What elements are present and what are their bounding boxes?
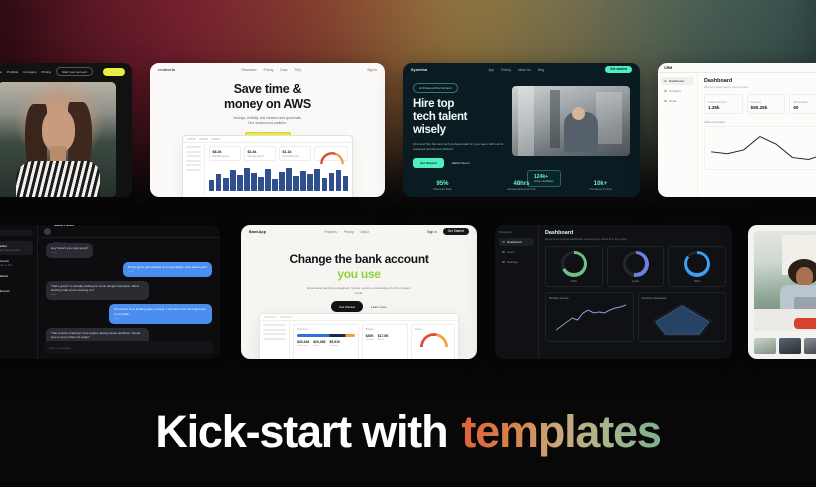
bank-button-row: Get Started Learn more — [241, 301, 477, 312]
bank-panel-body: Overview $30,164 Total spend $20,082 Sav… — [260, 321, 458, 359]
aws-stat-label: Monthly spend — [213, 155, 238, 158]
amount-value: $30,164 — [297, 340, 309, 344]
gallery-hero-photo — [754, 231, 816, 331]
hiring-stat-label: Average Response Time — [482, 188, 561, 191]
hiring-get-started-button[interactable]: Get started — [605, 66, 632, 73]
chat-thread: Sarah Parker Online now Hey! How's your … — [38, 225, 220, 359]
thumbnail[interactable] — [779, 338, 801, 354]
conversation-preview: Let me check on that — [0, 264, 31, 267]
template-card-hiring-landing[interactable]: Synetiva App Pricing About Us Blog Get s… — [403, 63, 640, 197]
message-input-placeholder: Type a message... — [49, 346, 74, 350]
amount-label: Total spend — [297, 345, 309, 347]
thumbnail[interactable] — [804, 338, 816, 354]
donut-gauge-other: 86% — [684, 251, 710, 277]
list-item[interactable]: Emma Wilson Thanks! — [0, 271, 33, 285]
aws-panel-sidebar — [183, 143, 205, 197]
score-label: Score — [415, 328, 451, 331]
contacts-icon — [664, 90, 667, 93]
sales-line-svg — [705, 127, 816, 169]
aws-utilization-gauge — [314, 146, 348, 161]
nav-link-blog[interactable]: Blog — [538, 68, 544, 72]
aws-stat-card: $8.2k Monthly spend — [209, 146, 241, 161]
aws-stat-value: $8.2k — [213, 150, 238, 154]
crm-topbar: CRM — [658, 63, 816, 73]
nav-link-company[interactable]: Company — [23, 70, 36, 74]
photo-machine-right — [596, 92, 622, 144]
nav-link-pricing[interactable]: Pricing — [344, 230, 354, 234]
bank-paragraph: Experience banking reimagined. Simple, s… — [241, 286, 477, 295]
analytics-sidebar: Navigation Dashboard Users Settings — [495, 225, 539, 359]
metric-value: $50.25k — [751, 105, 782, 110]
message-input[interactable]: Type a message... — [44, 341, 214, 354]
portrait-neck — [50, 146, 66, 162]
message-bubble-sent: Pretty good, just working on a new desig… — [123, 262, 212, 277]
crm-body: Dashboard Contacts Deals Dashboard Welco… — [658, 73, 816, 197]
aws-bar-chart — [209, 165, 348, 191]
sidebar-title: Navigation — [499, 230, 534, 234]
chat-contact-name: Sarah Parker — [54, 225, 74, 227]
nav-link-pricing[interactable]: Pricing — [501, 68, 511, 72]
donut-gauge-visits: 68% — [561, 251, 587, 277]
template-card-crm-dashboard[interactable]: CRM Dashboard Contacts Deals Dashboard — [658, 63, 816, 197]
message-text: Pretty good, just working on a new desig… — [128, 265, 207, 269]
analytics-line-chart: Monthly Income — [545, 292, 634, 342]
conversation-preview: Sounds great! See you then — [0, 249, 31, 252]
budget-caption: Planned — [366, 339, 374, 341]
amount-label: Pending — [330, 345, 340, 347]
bank-headline-line1: Change the bank account — [241, 252, 477, 266]
message-text: That's great! I'm actually looking for s… — [51, 284, 139, 292]
message-bubble-received: That's great! I'm actually looking for s… — [46, 281, 149, 300]
crm-sales-chart — [704, 126, 816, 170]
budget-value: $17.5K — [378, 334, 389, 338]
photo-machine-left — [518, 86, 534, 156]
message-text: Of course! It's a landing page concept. … — [114, 307, 205, 315]
crm-metric-card: Revenue $50.25k — [747, 94, 786, 114]
conversation-name: Tom Anderson — [0, 289, 31, 293]
crm-metric-card: Total Customers 1.25k — [704, 94, 743, 114]
photo-person-face — [796, 267, 813, 287]
nav-link-pricing[interactable]: Pricing — [264, 68, 274, 72]
analytics-main: Dashboard Below is an example dashboard … — [539, 225, 732, 359]
template-card-photo-gallery[interactable] — [748, 225, 816, 359]
chat-header: Sarah Parker Online now — [38, 225, 220, 238]
hiring-button-row: Get Started Watch Demo — [413, 158, 640, 168]
analytics-subtitle: Below is an example dashboard created us… — [545, 238, 726, 241]
sidebar-item-deals[interactable]: Deals — [661, 97, 694, 105]
aws-sign-in-link[interactable]: Sign in — [367, 68, 377, 72]
message-text: That sounds amazing! I love Apple's alwa… — [51, 331, 140, 339]
template-card-chat-app[interactable]: Sarah Parker Sounds great! See you then … — [0, 225, 220, 359]
analytics-ring-card: 68% Visits — [545, 246, 603, 287]
template-card-analytics-dashboard[interactable]: Navigation Dashboard Users Settings Dash… — [495, 225, 732, 359]
page-title: Kick-start withtemplates — [0, 406, 816, 458]
overview-progress-bar — [297, 334, 355, 337]
portrait-photo — [0, 82, 116, 197]
conversation-name: Emma Wilson — [0, 274, 31, 278]
ring-label: Visits — [546, 280, 602, 283]
template-card-portfolio[interactable]: Overview Portfolio Company Pricing Start… — [0, 63, 132, 197]
list-item[interactable]: Sarah Parker Sounds great! See you then — [0, 241, 33, 255]
aws-panel-main: $8.2k Monthly spend $2.4k Savings found … — [205, 143, 352, 197]
message-text: Hey! How's your day going? — [51, 246, 88, 250]
analytics-layout: Navigation Dashboard Users Settings Dash… — [495, 225, 732, 359]
aws-stat-label: Savings found — [248, 155, 273, 158]
template-card-aws-landing[interactable]: codaveta Resources Pricing Docs FAQ Sign… — [150, 63, 385, 197]
photo-person-head — [572, 107, 585, 120]
ring-label: Other — [669, 280, 725, 283]
metric-label: Total Customers — [708, 101, 739, 104]
hiring-stat: 48hrs Average Response Time — [482, 181, 561, 192]
amount-label: Saved — [313, 345, 325, 347]
gauge-arc — [320, 152, 344, 164]
metric-label: Active Deals — [793, 101, 816, 104]
hiring-stat-label: Companies Trusted — [561, 188, 640, 191]
sidebar-item-dashboard[interactable]: Dashboard — [661, 77, 694, 85]
nav-link-portfolio[interactable]: Portfolio — [7, 70, 18, 74]
message-time: 10:12 — [51, 252, 88, 255]
metric-value: 60 — [793, 105, 816, 110]
template-card-bank-landing[interactable]: BankApp Features Pricing About Sign in G… — [241, 225, 477, 359]
conversation-preview: Thanks! — [0, 279, 31, 282]
message-list: Hey! How's your day going? 10:12 Pretty … — [38, 238, 220, 341]
bank-panel-main: Overview $30,164 Total spend $20,082 Sav… — [290, 321, 458, 359]
overview-label: Overview — [297, 328, 355, 331]
bank-overview-box: Overview $30,164 Total spend $20,082 Sav… — [293, 324, 359, 359]
analytics-title: Dashboard — [545, 230, 726, 236]
list-item[interactable]: Mike Johnson Let me check on that — [0, 256, 33, 270]
headline-plain-text: Kick-start with — [155, 406, 447, 457]
gear-icon — [502, 261, 505, 264]
sidebar-label: Dashboard — [507, 240, 522, 244]
amount-value: $5,910 — [330, 340, 340, 344]
analytics-chart-row: Monthly Income Customer Requests — [545, 292, 726, 342]
bank-dashboard-preview: Overview $30,164 Total spend $20,082 Sav… — [259, 313, 459, 359]
aws-dashboard-preview: $8.2k Monthly spend $2.4k Savings found … — [182, 135, 353, 197]
budget-values: $20K Planned $17.5K Actual — [366, 334, 404, 341]
hiring-stat: 10k+ Companies Trusted — [561, 181, 640, 192]
message-bubble-received: Hey! How's your day going? 10:12 — [46, 243, 93, 258]
monthly-income-svg — [549, 300, 630, 338]
nav-link-faq[interactable]: FAQ — [295, 68, 301, 72]
crm-brand: CRM — [664, 66, 672, 70]
nav-link-app[interactable]: App — [488, 68, 494, 72]
bank-score-box: Score — [411, 324, 455, 359]
photo-machine-mid — [550, 90, 560, 148]
hiring-stat-value: 95% — [403, 181, 482, 187]
portrait-striped-shirt — [16, 161, 100, 197]
deals-icon — [664, 100, 667, 103]
sidebar-label: Contacts — [669, 89, 681, 93]
amount-value: $20,082 — [313, 340, 325, 344]
nav-link-pricing[interactable]: Pricing — [42, 70, 51, 74]
metric-value: 1.25k — [708, 105, 739, 110]
sidebar-item-dashboard[interactable]: Dashboard — [499, 238, 534, 246]
bank-headline-line2: you use — [241, 267, 477, 281]
sidebar-label: Dashboard — [669, 79, 684, 83]
ring-value: 53% — [623, 251, 649, 277]
nav-link-overview[interactable]: Overview — [0, 70, 2, 74]
hiring-stat: 95% Placement Rate — [403, 181, 482, 192]
hiring-badge: AI-Powered Recruitment — [413, 83, 458, 93]
bank-brand: BankApp — [249, 230, 266, 234]
bank-paragraph-line2: world. — [241, 291, 477, 296]
crm-sidebar: Dashboard Contacts Deals — [658, 73, 698, 197]
analytics-ring-card: 53% Leads — [607, 246, 665, 287]
portfolio-nav: Overview Portfolio Company Pricing Start… — [0, 63, 132, 79]
hiring-brand: Synetiva — [411, 68, 427, 72]
aws-stat-value: $1.1k — [283, 150, 308, 154]
hiring-stats-row: 95% Placement Rate 48hrs Average Respons… — [403, 181, 640, 192]
crm-title: Dashboard — [704, 78, 816, 84]
bank-panel-toolbar — [260, 314, 458, 321]
aws-panel-body: $8.2k Monthly spend $2.4k Savings found … — [183, 143, 352, 197]
thumbnail[interactable] — [754, 338, 776, 354]
sidebar-item-users[interactable]: Users — [499, 248, 534, 256]
message-time: 10:14 — [128, 271, 207, 274]
users-icon — [502, 251, 505, 254]
score-gauge-arc — [420, 333, 448, 347]
conversation-search-input[interactable] — [0, 230, 33, 236]
bank-secondary-button[interactable]: Learn more — [371, 305, 387, 309]
aws-stat-label: Committed use — [283, 155, 308, 158]
list-item[interactable]: Tom Anderson Sure — [0, 286, 33, 300]
bank-panel-sidebar — [260, 321, 290, 359]
conversation-name: Mike Johnson — [0, 259, 31, 263]
sidebar-label: Deals — [669, 99, 677, 103]
budget-value: $20K — [366, 334, 374, 338]
ring-label: Leads — [608, 280, 664, 283]
nav-link-resources[interactable]: Resources — [241, 68, 256, 72]
hiring-primary-button[interactable]: Get Started — [413, 158, 444, 168]
headline-accent-text: templates — [461, 406, 660, 457]
templates-showcase-screen: Overview Portfolio Company Pricing Start… — [0, 0, 816, 487]
sidebar-label: Settings — [507, 260, 518, 264]
ring-value: 68% — [561, 251, 587, 277]
hiring-secondary-button[interactable]: Watch Demo — [452, 161, 470, 165]
customer-requests-svg — [642, 300, 723, 338]
hiring-hero-photo — [512, 86, 630, 156]
bank-nav: BankApp Features Pricing About Sign in G… — [241, 225, 477, 238]
bank-sign-in-link[interactable]: Sign in — [427, 230, 437, 234]
nav-link-about-us[interactable]: About Us — [518, 68, 531, 72]
crm-metric-row: Total Customers 1.25k Revenue $50.25k Ac… — [704, 94, 816, 114]
bank-get-started-button[interactable]: Get Started — [443, 228, 469, 235]
conversation-preview: Sure — [0, 294, 31, 297]
sidebar-item-settings[interactable]: Settings — [499, 258, 534, 266]
crm-chart-title: Sales Overview — [704, 120, 816, 124]
photo-red-accent — [794, 318, 816, 329]
signup-button[interactable]: Sign Up — [103, 68, 125, 76]
analytics-ring-row: 68% Visits 53% Leads 86% Ot — [545, 246, 726, 287]
nav-link-about[interactable]: About — [361, 230, 369, 234]
nav-link-docs[interactable]: Docs — [280, 68, 287, 72]
crm-metric-card: Active Deals 60 — [789, 94, 816, 114]
bank-nav-links: Features Pricing About — [324, 230, 369, 234]
hiring-nav: Synetiva App Pricing About Us Blog Get s… — [403, 63, 640, 76]
aws-stat-value: $2.4k — [248, 150, 273, 154]
hiring-stat-value: 48hrs — [482, 181, 561, 187]
analytics-ring-card: 86% Other — [668, 246, 726, 287]
crm-subtitle: Welcome back! Here's your overview. — [704, 86, 816, 89]
aws-stat-card: $1.1k Committed use — [279, 146, 311, 161]
hiring-stat-value: 10k+ — [561, 181, 640, 187]
message-time: 10:18 — [114, 318, 207, 321]
hiring-stat-label: Placement Rate — [403, 188, 482, 191]
metric-label: Revenue — [751, 101, 782, 104]
message-bubble-sent: Of course! It's a landing page concept. … — [109, 304, 212, 323]
aws-stat-card: $2.4k Savings found — [244, 146, 276, 161]
message-bubble-received: That sounds amazing! I love Apple's alwa… — [46, 328, 149, 341]
analytics-radar-chart: Customer Requests — [638, 292, 727, 342]
hiring-paragraph: Find and hire the best tech professional… — [413, 142, 505, 152]
donut-gauge-leads: 53% — [623, 251, 649, 277]
crm-main: Dashboard Welcome back! Here's your over… — [698, 73, 816, 197]
conversation-list: Sarah Parker Sounds great! See you then … — [0, 225, 38, 359]
nav-link-start-account[interactable]: Start your account — [56, 67, 93, 76]
bank-primary-button[interactable]: Get Started — [331, 301, 363, 312]
dashboard-icon — [502, 241, 505, 244]
aws-stat-row: $8.2k Monthly spend $2.4k Savings found … — [209, 146, 348, 161]
sidebar-label: Users — [507, 250, 515, 254]
budget-label: Budget — [366, 328, 404, 331]
conversation-name: Sarah Parker — [0, 244, 31, 248]
budget-caption: Actual — [378, 339, 389, 341]
ring-value: 86% — [684, 251, 710, 277]
gallery-thumbnail-strip[interactable] — [754, 338, 816, 354]
dashboard-icon — [664, 80, 667, 83]
aws-panel-toolbar — [183, 136, 352, 143]
avatar — [44, 228, 51, 235]
message-time: 10:16 — [51, 294, 144, 297]
chat-layout: Sarah Parker Sounds great! See you then … — [0, 225, 220, 359]
bank-budget-box: Budget $20K Planned $17.5K Actual — [362, 324, 408, 359]
nav-link-features[interactable]: Features — [324, 230, 337, 234]
overview-amounts: $30,164 Total spend $20,082 Saved $5,910… — [297, 340, 355, 347]
hiring-nav-links: App Pricing About Us Blog — [488, 68, 544, 72]
sidebar-item-contacts[interactable]: Contacts — [661, 87, 694, 95]
